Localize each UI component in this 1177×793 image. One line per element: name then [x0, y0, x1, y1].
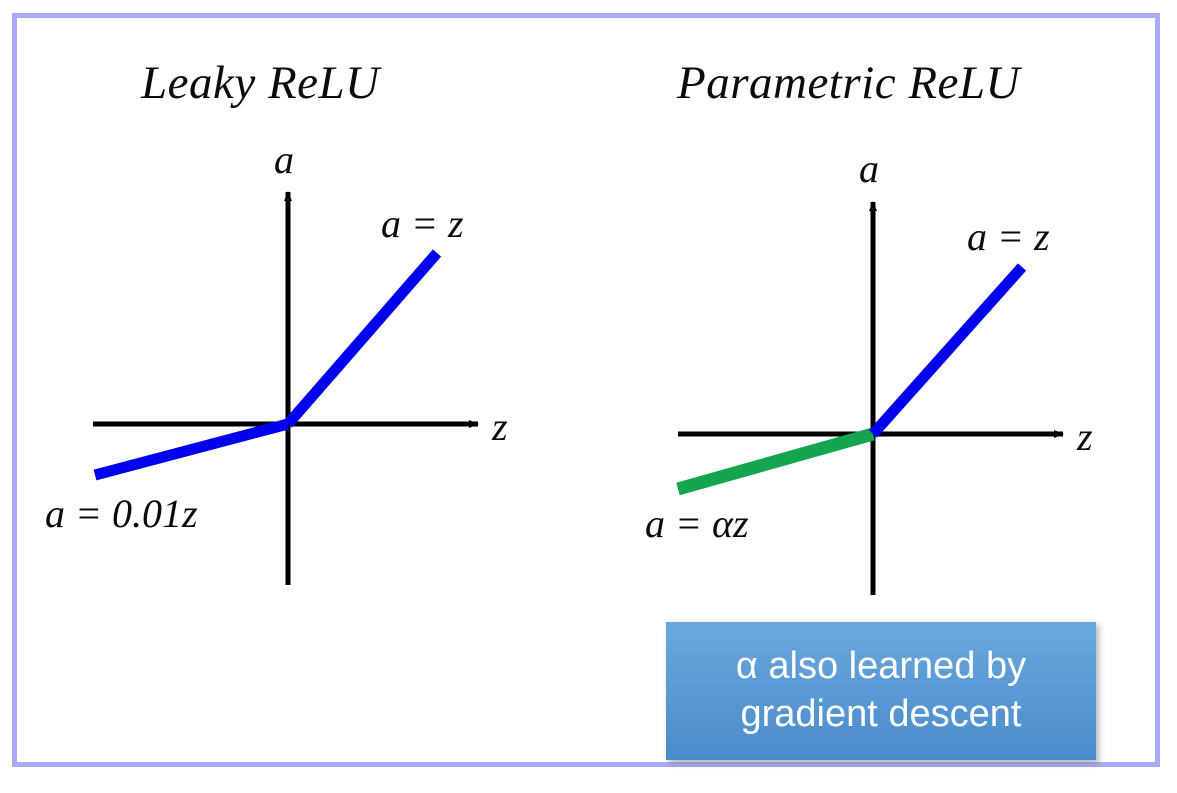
axis-label-z-right: z	[1077, 413, 1093, 460]
panel-title-leaky-relu: Leaky ReLU	[141, 56, 380, 110]
branch-label-negative-right: a = αz	[645, 500, 749, 547]
axis-label-a-left: a	[274, 136, 294, 183]
branch-label-negative-left: a = 0.01z	[45, 490, 198, 537]
branch-label-positive-right: a = z	[967, 213, 1050, 260]
axis-label-a-right: a	[859, 145, 879, 192]
callout-line-1: α also learned by	[684, 643, 1078, 691]
axis-label-z-left: z	[492, 403, 508, 450]
callout-box-alpha-learned: α also learned by gradient descent	[666, 622, 1096, 760]
callout-line-2: gradient descent	[684, 691, 1078, 739]
branch-label-positive-left: a = z	[381, 200, 464, 247]
panel-title-parametric-relu: Parametric ReLU	[677, 56, 1020, 110]
slide-canvas: Leaky ReLU a z a = z a = 0.01z Parametri…	[0, 0, 1177, 793]
